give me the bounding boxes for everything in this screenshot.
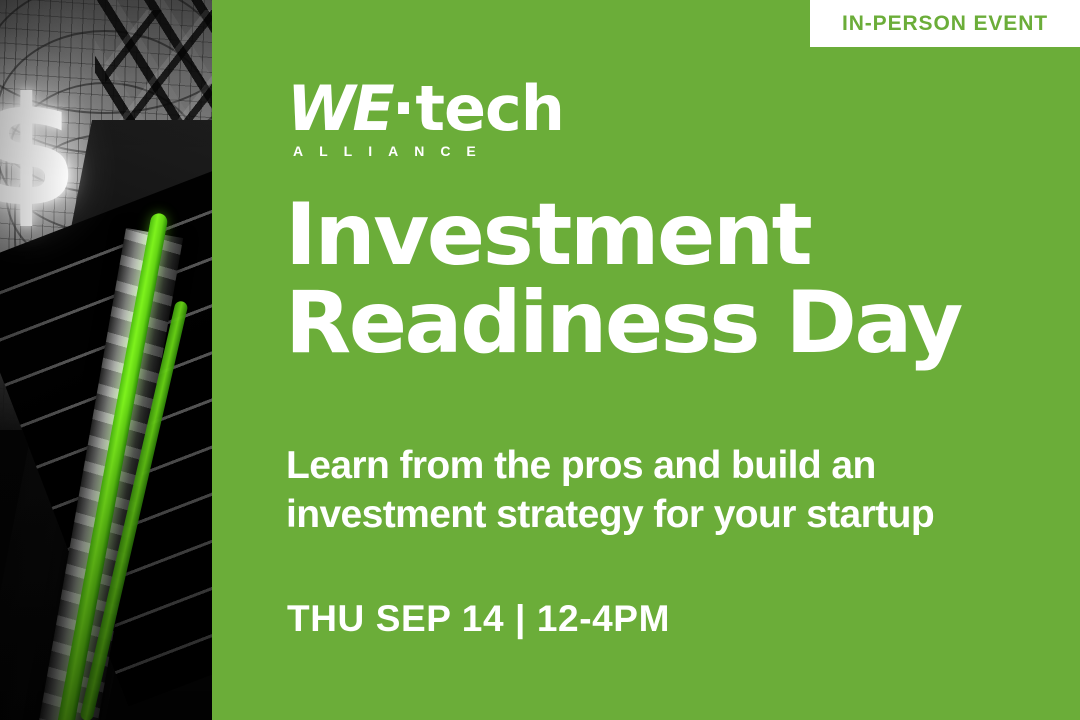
logo-dot-icon: · xyxy=(392,72,416,145)
badge-label: IN-PERSON EVENT xyxy=(842,12,1048,36)
subtitle-line-2: investment strategy for your startup xyxy=(286,491,1080,540)
headline-line-2: Readiness Day xyxy=(285,280,1080,368)
content-area: IN-PERSON EVENT WE·tech ALLIANCE Investm… xyxy=(212,0,1080,720)
headline-line-1: Investment xyxy=(285,192,1080,280)
subtitle: Learn from the pros and build an investm… xyxy=(286,442,1080,540)
brand-logo: WE·tech ALLIANCE xyxy=(287,80,564,159)
event-poster: $ IN-PERSON EVENT WE·tech ALLIANCE Inves… xyxy=(0,0,1080,720)
logo-tech-text: tech xyxy=(415,72,564,145)
subtitle-line-1: Learn from the pros and build an xyxy=(286,442,1080,491)
event-datetime-text: THU SEP 14 | 12-4PM xyxy=(287,598,670,640)
logo-we-text: WE xyxy=(287,72,392,145)
event-datetime: THU SEP 14 | 12-4PM xyxy=(287,598,670,640)
photo-vignette xyxy=(0,0,212,720)
status-badge: IN-PERSON EVENT xyxy=(810,0,1080,47)
logo-wordmark: WE·tech xyxy=(287,80,564,139)
photo-panel: $ xyxy=(0,0,212,720)
logo-alliance-text: ALLIANCE xyxy=(293,143,564,159)
page-title: Investment Readiness Day xyxy=(285,192,1080,367)
